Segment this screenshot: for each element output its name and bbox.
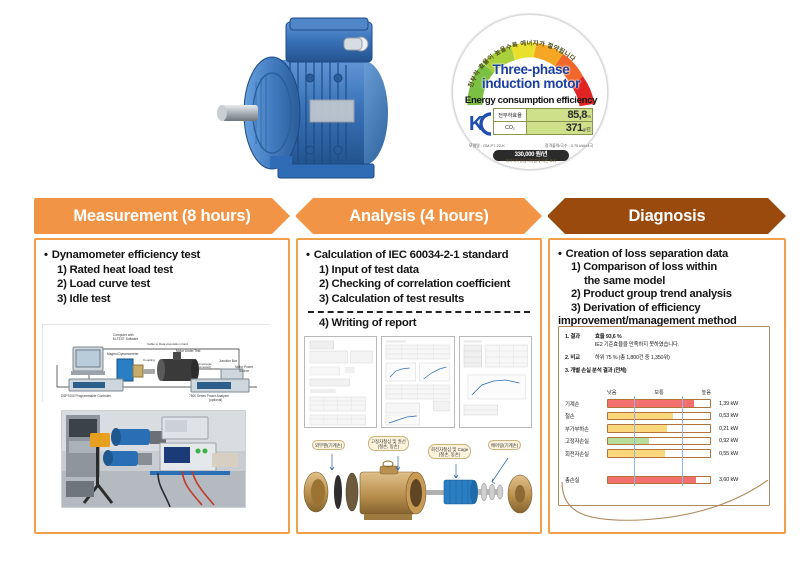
flow-body-measurement: Dynamometer efficiency test 1) Rated hea… <box>34 238 290 534</box>
kc-row-key: 전부하효율 <box>494 109 527 122</box>
table-row: 전부하효율 85,8% <box>494 109 593 122</box>
bar-label: 부가부하손 <box>559 425 607 433</box>
kc-info-block: K 전부하효율 85,8% CO₂ 371g/召 <box>469 108 593 142</box>
callout-stator-core: 고정자철심 및 권선(철손, 동손) <box>368 436 409 451</box>
decorative-curve <box>560 480 772 526</box>
report-page-2 <box>381 336 454 428</box>
result-row-2: 2. 비교 하위 75 % (총 1,800건 중 1,350위) <box>559 353 769 361</box>
label-model-line: 모델명 : GM-P7-22-K 정격출력/극수 : 3.75 kW×4극 <box>469 143 593 149</box>
list-item: the same model <box>558 275 778 288</box>
spacer <box>711 389 771 396</box>
flow-body-diagnosis: Creation of loss separation data 1) Comp… <box>548 238 786 534</box>
chart-scale-header: 낮음 보통 높음 <box>559 389 771 396</box>
flow-header-label: Diagnosis <box>628 207 705 226</box>
result-row-label: 개별 손실 분석 결과 (전체) <box>570 368 626 374</box>
bar-value: 1,39 kW <box>711 401 771 407</box>
loss-breakdown-chart: 낮음 보통 높음 기계손 1,39 kW <box>559 389 771 487</box>
kc-row-unit: % <box>587 114 591 119</box>
kc-row-key: CO₂ <box>494 122 527 135</box>
list-item: 2) Checking of correlation coefficient <box>306 277 534 292</box>
diagnosis-result-card: 1. 결과 효율 93,6 % IE2 기준효율을 만족하지 못하였습니다. <box>558 326 770 506</box>
bar-value: 0,55 kW <box>711 451 771 457</box>
test-bench-photo <box>61 410 246 508</box>
bar-fill <box>608 400 694 407</box>
flow-column-measurement: Measurement (8 hours) Dynamometer effici… <box>34 198 290 534</box>
label-model-rating: 정격출력/극수 : 3.75 kW×4극 <box>545 143 593 149</box>
report-page-3 <box>459 336 532 428</box>
result-row-value: 효율 93,6 % <box>595 332 763 340</box>
bar-fill <box>608 450 665 457</box>
list-item: 1) Comparison of loss within <box>558 261 778 274</box>
result-row-index: 2. <box>565 355 569 361</box>
analysis-bullet-list: Calculation of IEC 60034-2-1 standard 1)… <box>298 240 540 331</box>
result-row-value: 하위 75 % (총 1,800건 중 1,350위) <box>595 353 763 361</box>
bar-label: 기계손 <box>559 400 607 408</box>
spacer <box>565 340 595 348</box>
list-item: 3) Derivation of efficiency <box>558 302 778 315</box>
result-row-1: 1. 결과 효율 93,6 % IE2 기준효율을 만족하지 못하였습니다. <box>559 332 769 348</box>
table-row: 부가부하손 0,21 kW <box>559 423 771 434</box>
kc-row-number: 371 <box>566 122 583 134</box>
label-title-line1: Three-phase <box>461 63 601 77</box>
result-row-index: 3. <box>565 368 569 374</box>
svg-text:Cable to Data Acquisition Card: Cable to Data Acquisition Card <box>147 342 188 346</box>
kc-row-unit: g/召 <box>583 127 591 132</box>
bar-fill <box>608 425 667 432</box>
result-row-3: 3. 개별 손실 분석 결과 (전체) <box>559 366 769 374</box>
table-row: 철손 0,53 kW <box>559 411 771 422</box>
bar-value: 0,21 kW <box>711 426 771 432</box>
guide-line-high <box>682 396 683 486</box>
bar-track <box>607 399 711 408</box>
kc-row-value: 85,8% <box>527 109 593 122</box>
result-row-key: 2. 비교 <box>565 353 595 361</box>
list-item: 3) Idle test <box>44 292 282 307</box>
svg-text:DSP7000 Programmable Controlle: DSP7000 Programmable Controller <box>61 394 112 398</box>
motor-image <box>186 8 408 186</box>
list-item: 1) Input of test data <box>306 263 534 278</box>
table-row: CO₂ 371g/召 <box>494 122 593 135</box>
result-row-note: IE2 기준효율을 만족하지 못하였습니다. <box>559 340 769 348</box>
svg-text:Junction Box: Junction Box <box>219 359 238 363</box>
flow-header-label: Measurement (8 hours) <box>73 207 250 226</box>
bar-fill <box>608 438 649 445</box>
list-item: 3) Calculation of test results <box>306 292 534 307</box>
scale-label-mid: 보통 <box>654 389 664 396</box>
exploded-motor-diagram: 외부팬(기계손) 고정자철심 및 권선(철손, 동손) 회전자철심 및 Cage… <box>302 436 536 528</box>
result-row-key: 3. 개별 손실 분석 결과 (전체) <box>565 366 626 374</box>
bar-value: 0,53 kW <box>711 413 771 419</box>
result-row-key: 1. 결과 <box>565 332 595 340</box>
diagnosis-bullet-list: Creation of loss separation data 1) Comp… <box>550 240 784 328</box>
bar-track <box>607 437 711 446</box>
flow-header-measurement[interactable]: Measurement (8 hours) <box>34 198 290 234</box>
kc-values-table: 전부하효율 85,8% CO₂ 371g/召 <box>493 108 593 135</box>
flow-column-diagnosis: Diagnosis Creation of loss separation da… <box>548 198 786 534</box>
result-row-breakdown: 3. 개별 손실 분석 결과 (전체) <box>559 366 769 374</box>
callout-bearing: 베어링(기계손) <box>488 440 521 450</box>
svg-text:Magtrol Dynamometer: Magtrol Dynamometer <box>107 352 139 356</box>
bar-fill <box>608 413 673 420</box>
bar-value: 0,92 kW <box>711 438 771 444</box>
label-footnote: 에너지이용합리화법에 의한 표시 <box>469 159 593 164</box>
flow-header-label: Analysis (4 hours) <box>349 207 488 226</box>
list-item: 2) Load curve test <box>44 277 282 292</box>
bar-track <box>607 424 711 433</box>
label-title: Three-phase induction motor <box>461 63 601 91</box>
flow-header-analysis[interactable]: Analysis (4 hours) <box>296 198 542 234</box>
table-row: 기계손 1,39 kW <box>559 398 771 409</box>
top-illustration-area: 전부하 효율이 높을수록 에너지가 절약됩니다 Three-phase indu… <box>0 0 800 192</box>
energy-efficiency-label: 전부하 효율이 높을수록 에너지가 절약됩니다 Three-phase indu… <box>452 14 608 170</box>
label-title-line2: induction motor <box>461 77 601 91</box>
bar-track <box>607 449 711 458</box>
list-item: Dynamometer efficiency test <box>44 248 282 263</box>
scale-label-low: 낮음 <box>607 389 617 396</box>
list-item: 1) Rated heat load test <box>44 263 282 278</box>
bar-label: 철손 <box>559 412 607 420</box>
label-model-name: 모델명 : GM-P7-22-K <box>469 143 505 149</box>
list-item: 4) Writing of report <box>306 316 534 331</box>
scale-label-high: 높음 <box>701 389 711 396</box>
result-row-note-text: IE2 기준효율을 만족하지 못하였습니다. <box>595 340 763 348</box>
measurement-bullet-list: Dynamometer efficiency test 1) Rated hea… <box>36 240 288 306</box>
bar-track <box>607 412 711 421</box>
result-row-compare: 2. 비교 하위 75 % (총 1,800건 중 1,350위) <box>559 353 769 361</box>
table-row: 회전자손실 0,55 kW <box>559 448 771 459</box>
spacer <box>559 389 607 396</box>
scale-labels: 낮음 보통 높음 <box>607 389 711 396</box>
label-subtitle: Energy consumption efficiency <box>457 95 605 106</box>
svg-text:(optional): (optional) <box>209 398 222 402</box>
table-row: 고정자손실 0,92 kW <box>559 436 771 447</box>
dynamometer-schematic-image: Computer with M-TEST Software Cable to D… <box>42 324 270 402</box>
list-item: Creation of loss separation data <box>558 248 778 261</box>
list-item: 2) Product group trend analysis <box>558 288 778 301</box>
flow-header-diagnosis[interactable]: Diagnosis <box>548 198 786 234</box>
svg-text:Source: Source <box>239 369 249 373</box>
flow-body-analysis: Calculation of IEC 60034-2-1 standard 1)… <box>296 238 542 534</box>
guide-line-low <box>634 396 635 486</box>
kc-row-number: 85,8 <box>567 109 586 121</box>
svg-text:(if connected): (if connected) <box>195 365 211 369</box>
dashed-separator <box>308 311 530 313</box>
svg-text:Coupling: Coupling <box>143 358 155 362</box>
report-thumbnails <box>304 336 532 428</box>
result-row-header: 1. 결과 효율 93,6 % <box>559 332 769 340</box>
kc-row-value: 371g/召 <box>527 122 593 135</box>
callout-rotor-core: 회전자철심 및 Cage(철손, 동손) <box>428 444 471 459</box>
chart-bars: 기계손 1,39 kW 철손 0,53 kW 부가부하손 0,21 kW <box>559 396 771 486</box>
report-page-1 <box>304 336 377 428</box>
bar-label: 회전자손실 <box>559 450 607 458</box>
callout-external-fan: 외부팬(기계손) <box>312 440 345 450</box>
list-item: Calculation of IEC 60034-2-1 standard <box>306 248 534 263</box>
bar-label: 고정자손실 <box>559 437 607 445</box>
flow-column-analysis: Analysis (4 hours) Calculation of IEC 60… <box>296 198 542 534</box>
result-row-label: 비교 <box>570 355 580 361</box>
svg-text:M-TEST Software: M-TEST Software <box>113 337 138 341</box>
kc-certification-icon: K <box>469 108 493 138</box>
